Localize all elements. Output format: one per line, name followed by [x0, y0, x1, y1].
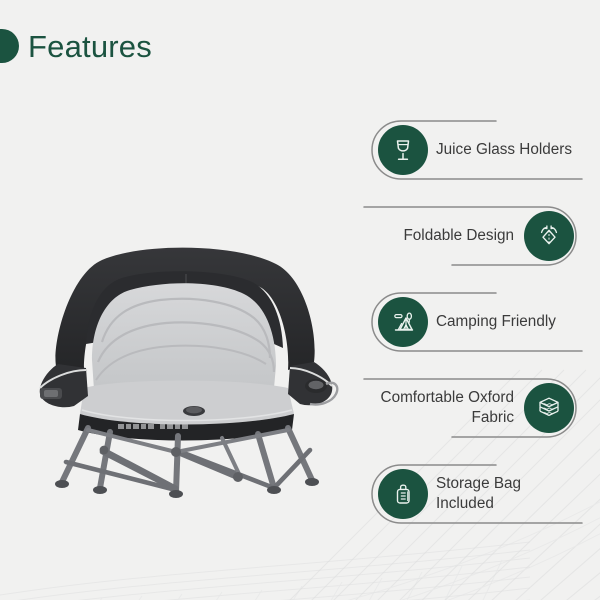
feature-list: Juice Glass Holders Foldable Design — [356, 116, 592, 548]
feature-item-comfortable-oxford-fabric[interactable]: Comfortable Oxford Fabric — [356, 374, 592, 452]
feature-item-camping-friendly[interactable]: Camping Friendly — [356, 288, 592, 366]
feature-label: Storage Bag Included — [436, 460, 588, 528]
feature-label: Juice Glass Holders — [436, 116, 588, 184]
feature-item-foldable-design[interactable]: Foldable Design — [356, 202, 592, 280]
tent-icon — [378, 297, 428, 347]
feature-label: Comfortable Oxford Fabric — [358, 374, 514, 442]
foldable-arrows-icon — [524, 211, 574, 261]
storage-bag-icon — [378, 469, 428, 519]
infographic-canvas: Features — [0, 0, 600, 600]
feature-label: Foldable Design — [358, 202, 514, 270]
feature-item-storage-bag-included[interactable]: Storage Bag Included — [356, 460, 592, 538]
product-image — [26, 238, 356, 500]
fabric-layers-icon — [524, 383, 574, 433]
feature-item-juice-glass-holders[interactable]: Juice Glass Holders — [356, 116, 592, 194]
half-circle-marker-icon — [0, 29, 19, 63]
feature-label: Camping Friendly — [436, 288, 588, 356]
wine-glass-icon — [378, 125, 428, 175]
page-title: Features — [28, 31, 152, 62]
page-header: Features — [0, 22, 152, 70]
